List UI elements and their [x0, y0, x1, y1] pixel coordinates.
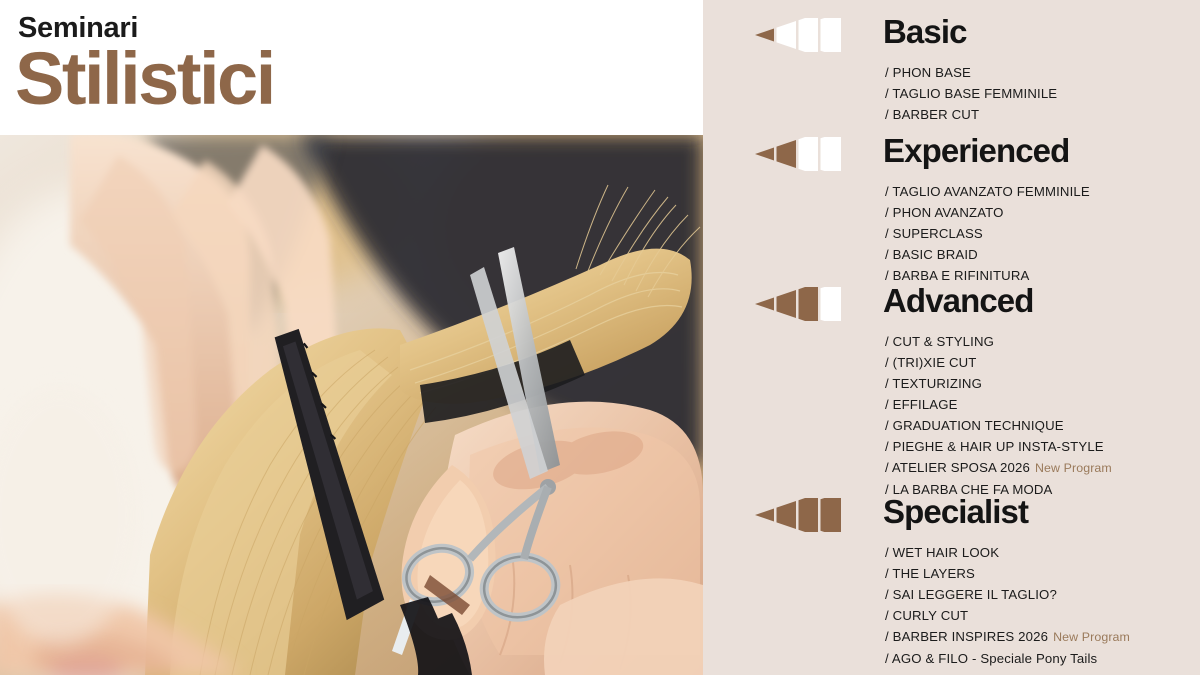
item-label: SAI LEGGERE IL TAGLIO? — [893, 587, 1057, 602]
section-title: Specialist — [883, 494, 1028, 530]
list-item: / (TRI)XIE CUT — [885, 352, 1112, 373]
item-label: SUPERCLASS — [893, 226, 983, 241]
level-indicator-arrow-icon — [755, 287, 841, 321]
list-item: / CUT & STYLING — [885, 331, 1112, 352]
level-indicator-arrow-icon — [755, 137, 841, 171]
left-column: Seminari Stilistici — [0, 0, 703, 675]
bullet-slash: / — [885, 86, 889, 101]
section-title: Experienced — [883, 133, 1069, 169]
item-label: (TRI)XIE CUT — [893, 355, 977, 370]
section-item-list: / TAGLIO AVANZATO FEMMINILE / PHON AVANZ… — [885, 181, 1090, 286]
list-item: / TEXTURIZING — [885, 373, 1112, 394]
item-label: THE LAYERS — [892, 566, 975, 581]
level-indicator-arrow-icon — [755, 18, 841, 52]
item-label: GRADUATION TECHNIQUE — [893, 418, 1064, 433]
bullet-slash: / — [885, 334, 889, 349]
bullet-slash: / — [885, 439, 889, 454]
level-indicator-arrow-icon — [755, 498, 841, 532]
item-label: CUT & STYLING — [893, 334, 994, 349]
item-label: WET HAIR LOOK — [893, 545, 1000, 560]
item-label: BASIC BRAID — [893, 247, 978, 262]
bullet-slash: / — [885, 608, 889, 623]
item-label: BARBER INSPIRES 2026 — [893, 629, 1048, 644]
title-line-stilistici: Stilistici — [15, 42, 274, 116]
list-item: / BARBER INSPIRES 2026New Program — [885, 626, 1130, 648]
list-item: / ATELIER SPOSA 2026New Program — [885, 457, 1112, 479]
list-item: / EFFILAGE — [885, 394, 1112, 415]
item-label: ATELIER SPOSA 2026 — [892, 460, 1030, 475]
bullet-slash: / — [885, 397, 889, 412]
bullet-slash: / — [885, 65, 889, 80]
bullet-slash: / — [885, 107, 889, 122]
bullet-slash: / — [885, 460, 889, 475]
item-label: PHON AVANZATO — [893, 205, 1004, 220]
section-item-list: / WET HAIR LOOK / THE LAYERS / SAI LEGGE… — [885, 542, 1130, 669]
hairdressing-photo-illustration — [0, 135, 703, 675]
new-program-badge: New Program — [1053, 630, 1130, 644]
list-item: / GRADUATION TECHNIQUE — [885, 415, 1112, 436]
list-item: / PHON AVANZATO — [885, 202, 1090, 223]
list-item: / SUPERCLASS — [885, 223, 1090, 244]
item-label: AGO & FILO - Speciale Pony Tails — [892, 651, 1097, 666]
bullet-slash: / — [885, 355, 889, 370]
bullet-slash: / — [885, 184, 889, 199]
new-program-badge: New Program — [1035, 461, 1112, 475]
bullet-slash: / — [885, 566, 889, 581]
section-item-list: / PHON BASE / TAGLIO BASE FEMMINILE / BA… — [885, 62, 1057, 125]
list-item: / AGO & FILO - Speciale Pony Tails — [885, 648, 1130, 669]
section-title: Advanced — [883, 283, 1034, 319]
item-label: BARBER CUT — [893, 107, 980, 122]
bullet-slash: / — [885, 226, 889, 241]
section-title: Basic — [883, 14, 967, 50]
item-label: TAGLIO AVANZATO FEMMINILE — [892, 184, 1089, 199]
programs-panel: Basic / PHON BASE / TAGLIO BASE FEMMINIL… — [703, 0, 1200, 675]
title-block: Seminari Stilistici — [0, 0, 703, 135]
hero-photo — [0, 135, 703, 675]
bullet-slash: / — [885, 268, 889, 283]
list-item: / PIEGHE & HAIR UP INSTA-STYLE — [885, 436, 1112, 457]
bullet-slash: / — [885, 418, 889, 433]
list-item: / WET HAIR LOOK — [885, 542, 1130, 563]
list-item: / THE LAYERS — [885, 563, 1130, 584]
item-label: CURLY CUT — [893, 608, 969, 623]
section-item-list: / CUT & STYLING / (TRI)XIE CUT / TEXTURI… — [885, 331, 1112, 500]
bullet-slash: / — [885, 629, 889, 644]
bullet-slash: / — [885, 247, 889, 262]
list-item: / BARBER CUT — [885, 104, 1057, 125]
bullet-slash: / — [885, 376, 889, 391]
list-item: / TAGLIO BASE FEMMINILE — [885, 83, 1057, 104]
item-label: BARBA E RIFINITURA — [893, 268, 1030, 283]
item-label: TAGLIO BASE FEMMINILE — [892, 86, 1057, 101]
bullet-slash: / — [885, 587, 889, 602]
list-item: / PHON BASE — [885, 62, 1057, 83]
slide-root: Seminari Stilistici — [0, 0, 1200, 675]
bullet-slash: / — [885, 545, 889, 560]
list-item: / CURLY CUT — [885, 605, 1130, 626]
bullet-slash: / — [885, 205, 889, 220]
list-item: / BASIC BRAID — [885, 244, 1090, 265]
item-label: PHON BASE — [893, 65, 971, 80]
item-label: PIEGHE & HAIR UP INSTA-STYLE — [893, 439, 1104, 454]
list-item: / SAI LEGGERE IL TAGLIO? — [885, 584, 1130, 605]
item-label: TEXTURIZING — [892, 376, 982, 391]
list-item: / TAGLIO AVANZATO FEMMINILE — [885, 181, 1090, 202]
bullet-slash: / — [885, 651, 889, 666]
item-label: EFFILAGE — [893, 397, 958, 412]
